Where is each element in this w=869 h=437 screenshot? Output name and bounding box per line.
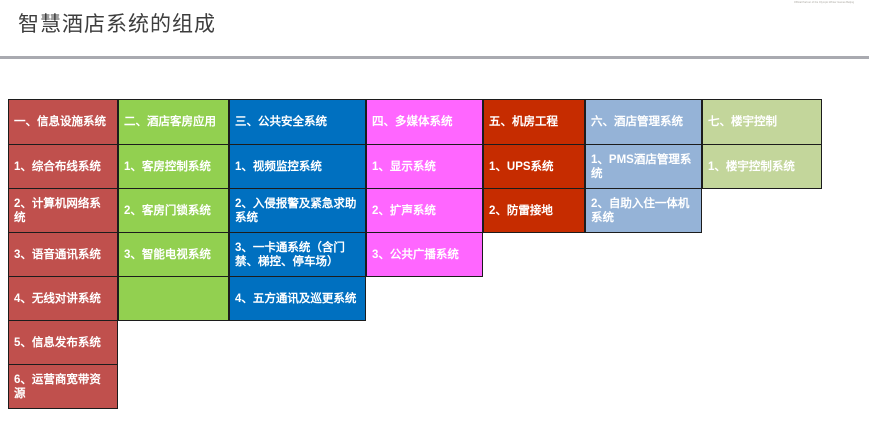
col-machine-room-header[interactable]: 五、机房工程 [483,99,585,145]
col-public-security-item-1[interactable]: 1、视频监控系统 [229,144,366,189]
col-information-facility-item-4[interactable]: 4、无线对讲系统 [8,276,118,321]
col-building-control: 七、楼宇控制1、楼宇控制系统 [702,99,822,189]
col-multimedia: 四、多媒体系统1、显示系统2、扩声系统3、公共广播系统 [366,99,483,277]
col-information-facility-item-2[interactable]: 2、计算机网络系统 [8,188,118,233]
col-guestroom-application-header[interactable]: 二、酒店客房应用 [118,99,229,145]
col-building-control-header[interactable]: 七、楼宇控制 [702,99,822,145]
col-guestroom-application-item-2[interactable]: 2、客房门锁系统 [118,188,229,233]
col-guestroom-application: 二、酒店客房应用1、客房控制系统2、客房门锁系统3、智能电视系统 [118,99,229,321]
col-public-security-header[interactable]: 三、公共安全系统 [229,99,366,145]
title-divider [0,56,869,59]
col-guestroom-application-empty-cell [118,276,229,321]
col-information-facility-item-5[interactable]: 5、信息发布系统 [8,320,118,365]
col-information-facility-item-1[interactable]: 1、综合布线系统 [8,144,118,189]
col-multimedia-item-1[interactable]: 1、显示系统 [366,144,483,189]
olympic-partner-watermark: Official Partner of the Olympic Winter G… [785,1,863,12]
col-building-control-item-1[interactable]: 1、楼宇控制系统 [702,144,822,189]
col-hotel-management-header[interactable]: 六、酒店管理系统 [585,99,702,145]
col-information-facility-header[interactable]: 一、信息设施系统 [8,99,118,145]
col-public-security: 三、公共安全系统1、视频监控系统2、入侵报警及紧急求助系统3、一卡通系统（含门禁… [229,99,366,321]
col-machine-room-item-1[interactable]: 1、UPS系统 [483,144,585,189]
col-machine-room: 五、机房工程1、UPS系统2、防雷接地 [483,99,585,233]
col-multimedia-header[interactable]: 四、多媒体系统 [366,99,483,145]
system-composition-matrix: 一、信息设施系统1、综合布线系统2、计算机网络系统3、语音通讯系统4、无线对讲系… [8,99,822,409]
col-information-facility: 一、信息设施系统1、综合布线系统2、计算机网络系统3、语音通讯系统4、无线对讲系… [8,99,118,409]
col-information-facility-item-6[interactable]: 6、运营商宽带资源 [8,364,118,409]
col-public-security-item-2[interactable]: 2、入侵报警及紧急求助系统 [229,188,366,233]
col-guestroom-application-item-3[interactable]: 3、智能电视系统 [118,232,229,277]
col-machine-room-item-2[interactable]: 2、防雷接地 [483,188,585,233]
page-title: 智慧酒店系统的组成 [18,8,216,38]
col-public-security-item-3[interactable]: 3、一卡通系统（含门禁、梯控、停车场） [229,232,366,277]
col-guestroom-application-item-1[interactable]: 1、客房控制系统 [118,144,229,189]
col-multimedia-item-3[interactable]: 3、公共广播系统 [366,232,483,277]
col-multimedia-item-2[interactable]: 2、扩声系统 [366,188,483,233]
col-hotel-management-item-1[interactable]: 1、PMS酒店管理系统 [585,144,702,189]
col-hotel-management-item-2[interactable]: 2、自助入住一体机系统 [585,188,702,233]
col-public-security-item-4[interactable]: 4、五方通讯及巡更系统 [229,276,366,321]
col-information-facility-item-3[interactable]: 3、语音通讯系统 [8,232,118,277]
col-hotel-management: 六、酒店管理系统1、PMS酒店管理系统2、自助入住一体机系统 [585,99,702,233]
